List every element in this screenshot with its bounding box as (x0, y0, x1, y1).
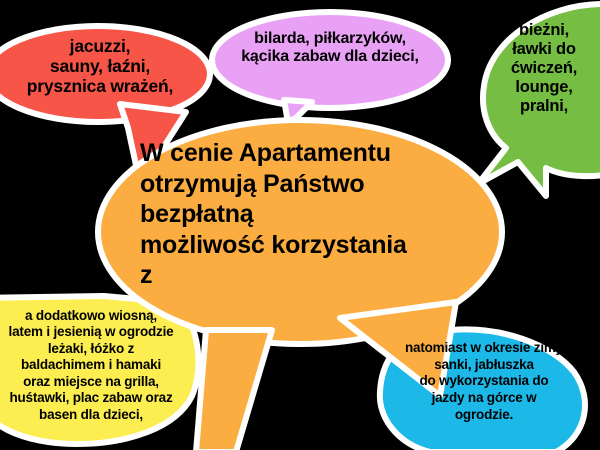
yellow-bubble-text: a dodatkowo wiosną, latem i jesienią w o… (0, 308, 194, 423)
slide-canvas: jacuzzi, sauny, łaźni, prysznica wrażeń,… (0, 0, 600, 450)
purple-bubble-text: bilarda, piłkarzyków, kącika zabaw dla d… (212, 30, 448, 67)
green-bubble-text: bieżni, ławki do ćwiczeń, lounge, pralni… (482, 21, 600, 116)
center-bubble-text: W cenie Apartamentu otrzymują Państwo be… (140, 138, 440, 291)
blue-bubble-text: natomiast w okresie zimy sanki, jabłuszk… (378, 340, 590, 424)
center-bubble-tail (196, 330, 272, 450)
red-bubble-text: jacuzzi, sauny, łaźni, prysznica wrażeń, (0, 36, 208, 96)
